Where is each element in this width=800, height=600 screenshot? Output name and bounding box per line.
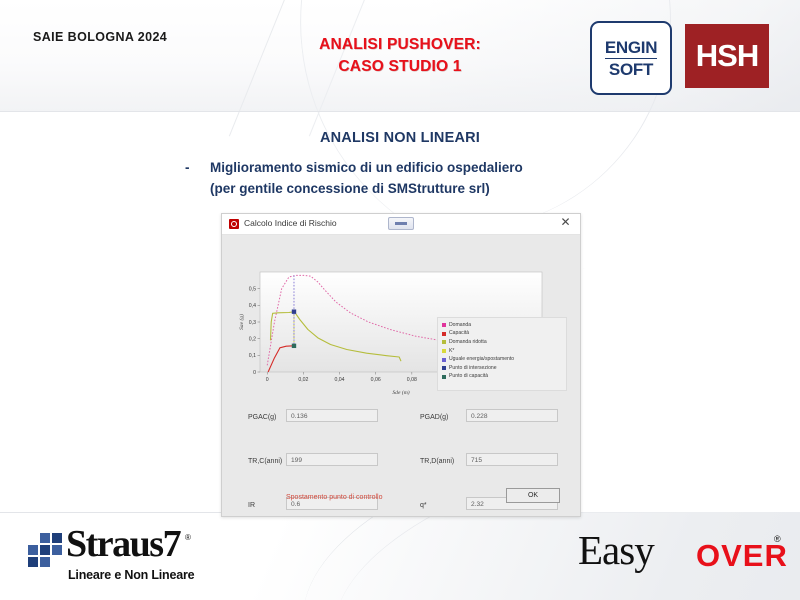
straus7-tagline: Lineare e Non Lineare [68, 568, 194, 582]
easyover-over-word: OVER [696, 540, 788, 571]
calcolo-indice-rischio-dialog: Calcolo Indice di Rischio ✕ 00,020,040,0… [221, 213, 581, 517]
form-row-2: TR,C(anni) 199 TR,D(anni) 715 [222, 451, 580, 481]
svg-text:0,02: 0,02 [298, 377, 308, 383]
legend-label: Domanda ridotta [449, 340, 487, 345]
hsh-logo: HSH [685, 24, 769, 88]
easyover-logo: Easy OVER ® [578, 530, 778, 582]
enginsoft-logo-rule [605, 58, 657, 59]
bullet-line-2: (per gentile concessione di SMStrutture … [210, 179, 615, 200]
slide-title: ANALISI PUSHOVER: CASO STUDIO 1 [230, 34, 570, 78]
field-value-trd[interactable]: 715 [466, 453, 558, 466]
field-label-ir: IR [248, 502, 255, 509]
chart-legend: DomandaCapacitàDomanda ridottaK*Uguale e… [437, 317, 567, 391]
legend-swatch-icon [442, 375, 446, 379]
slide-title-line-2: CASO STUDIO 1 [230, 56, 570, 78]
legend-row: Domanda ridotta [442, 338, 562, 347]
legend-label: K* [449, 349, 454, 354]
chart-marker [292, 344, 296, 348]
dialog-titlebar[interactable]: Calcolo Indice di Rischio ✕ [222, 214, 580, 235]
legend-swatch-icon [442, 340, 446, 344]
easyover-easy-word: Easy [578, 530, 654, 571]
legend-swatch-icon [442, 366, 446, 370]
legend-row: Punto di intersezione [442, 364, 562, 373]
legend-label: Punto di intersezione [449, 366, 497, 371]
svg-text:0,06: 0,06 [371, 377, 381, 383]
svg-text:0,1: 0,1 [249, 353, 256, 359]
control-point-note: Spostamento punto di controllo [286, 494, 383, 501]
svg-text:0,3: 0,3 [249, 320, 256, 326]
enginsoft-logo: ENGIN SOFT [590, 21, 672, 95]
dialog-body: 00,020,040,060,080,10,120,1400,10,20,30,… [222, 235, 580, 516]
field-value-pgac[interactable]: 0.136 [286, 409, 378, 422]
legend-swatch-icon [442, 349, 446, 353]
legend-label: Uguale energia/spostamento [449, 357, 514, 362]
results-form: PGAC(g) 0.136 PGAD(g) 0.228 TR,C(anni) 1… [222, 407, 580, 525]
legend-label: Domanda [449, 323, 471, 328]
straus7-registered-mark: ® [185, 533, 191, 542]
svg-text:0: 0 [253, 370, 256, 376]
legend-label: Capacità [449, 331, 469, 336]
chart-x-axis-label: Sde (m) [392, 389, 409, 396]
legend-row: Capacità [442, 330, 562, 339]
section-title: ANALISI NON LINEARI [0, 130, 800, 146]
close-icon[interactable]: ✕ [559, 216, 572, 229]
svg-text:0: 0 [266, 377, 269, 383]
legend-swatch-icon [442, 358, 446, 362]
field-label-pgac: PGAC(g) [248, 414, 276, 421]
svg-text:0,08: 0,08 [407, 377, 417, 383]
bullet-item: - Miglioramento sismico di un edificio o… [185, 158, 615, 199]
app-red-icon [229, 219, 239, 229]
legend-swatch-icon [442, 332, 446, 336]
svg-text:0,2: 0,2 [249, 337, 256, 343]
ok-button[interactable]: OK [506, 488, 560, 503]
legend-row: Domanda [442, 321, 562, 330]
svg-text:0,4: 0,4 [249, 303, 256, 309]
dialog-title: Calcolo Indice di Rischio [244, 218, 337, 228]
field-label-qstar: q* [420, 502, 427, 509]
legend-swatch-icon [442, 323, 446, 327]
field-value-trc[interactable]: 199 [286, 453, 378, 466]
field-label-trd: TR,D(anni) [420, 458, 454, 465]
bullet-line-1: Miglioramento sismico di un edificio osp… [210, 158, 615, 179]
presentation-slide: SAIE BOLOGNA 2024 ANALISI PUSHOVER: CASO… [0, 0, 800, 600]
form-row-1: PGAC(g) 0.136 PGAD(g) 0.228 [222, 407, 580, 437]
field-label-trc: TR,C(anni) [248, 458, 282, 465]
chart-y-axis-label: Sae (g) [238, 314, 245, 330]
header-divider [0, 111, 800, 112]
minimize-icon[interactable] [388, 217, 414, 230]
field-label-pgad: PGAD(g) [420, 414, 448, 421]
hsh-logo-text: HSH [696, 38, 758, 74]
enginsoft-logo-top: ENGIN [605, 39, 657, 56]
enginsoft-logo-bottom: SOFT [609, 61, 653, 78]
chart-marker [292, 309, 296, 313]
straus7-logo: Straus7 ® Lineare e Non Lineare [28, 527, 233, 585]
legend-row: K* [442, 347, 562, 356]
slide-title-line-1: ANALISI PUSHOVER: [230, 34, 570, 56]
event-label: SAIE BOLOGNA 2024 [33, 30, 167, 44]
legend-label: Punto di capacità [449, 374, 488, 379]
legend-row: Uguale energia/spostamento [442, 355, 562, 364]
easyover-registered-mark: ® [774, 534, 781, 544]
legend-row: Punto di capacità [442, 373, 562, 382]
svg-text:0,5: 0,5 [249, 287, 256, 293]
bullet-dash: - [185, 158, 190, 179]
svg-text:0,04: 0,04 [334, 377, 344, 383]
straus7-grid-icon [28, 533, 64, 569]
field-value-pgad[interactable]: 0.228 [466, 409, 558, 422]
straus7-wordmark: Straus7 [66, 525, 180, 563]
